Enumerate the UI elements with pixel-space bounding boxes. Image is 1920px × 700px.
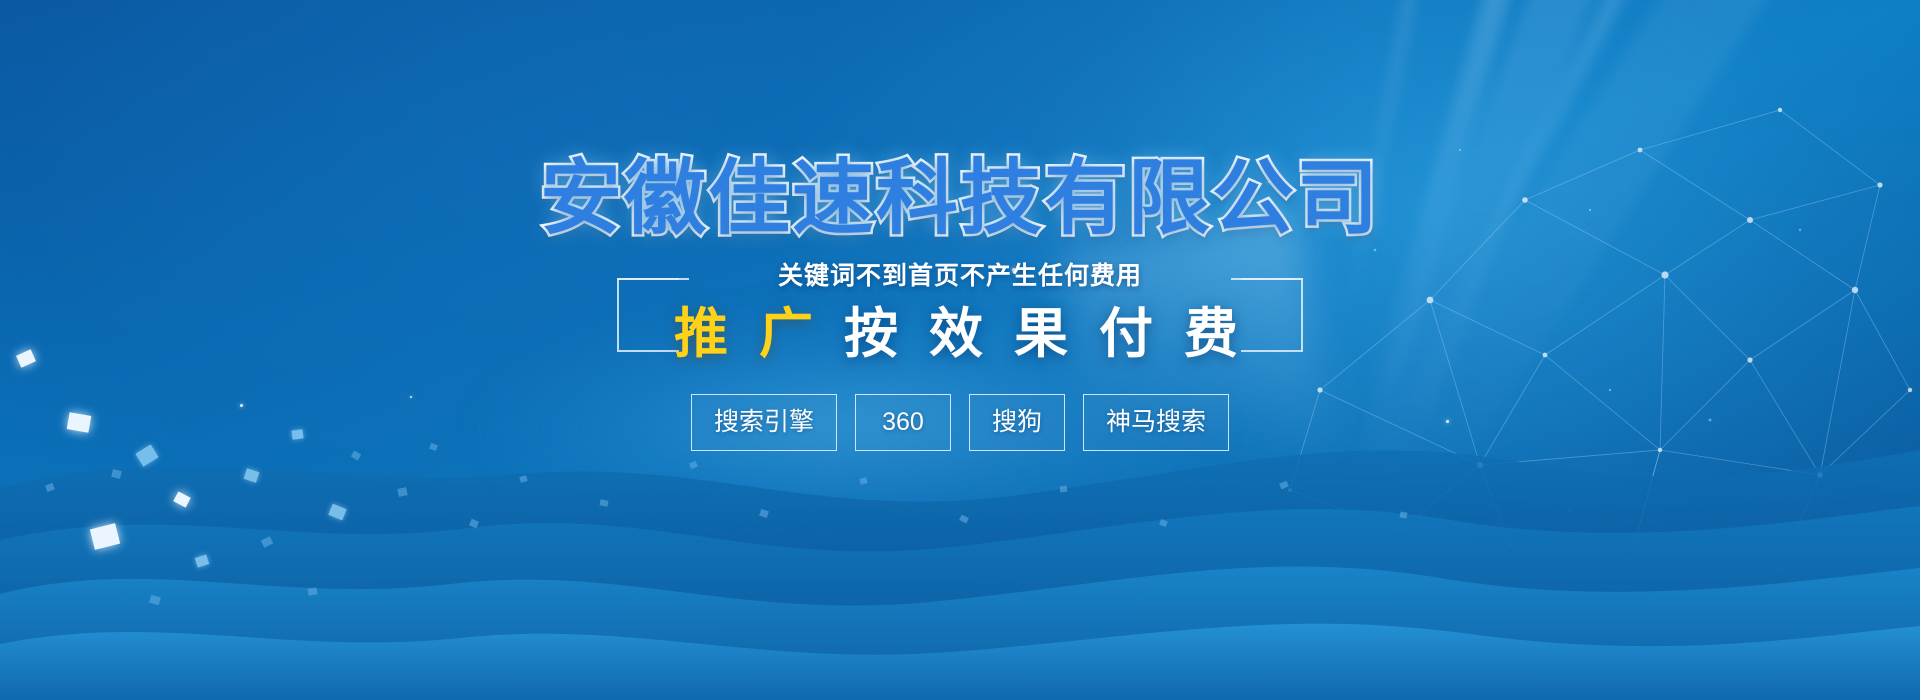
main-slogan-highlight: 推 广 [674, 304, 821, 364]
engine-button-search[interactable]: 搜索引擎 [691, 394, 837, 451]
engine-button-sogou[interactable]: 搜狗 [969, 394, 1065, 451]
search-engine-button-group: 搜索引擎 360 搜狗 神马搜索 [691, 394, 1229, 451]
banner-content: 安徽佳速科技有限公司 关键词不到首页不产生任何费用 推 广 按 效 果 付 费 … [0, 0, 1920, 700]
hero-banner: 安徽佳速科技有限公司 关键词不到首页不产生任何费用 推 广 按 效 果 付 费 … [0, 0, 1920, 700]
divider-line-left [617, 278, 689, 280]
main-slogan: 推 广 按 效 果 付 费 [674, 305, 1246, 364]
bracket-right [1241, 278, 1303, 352]
engine-button-360[interactable]: 360 [855, 394, 951, 451]
company-title: 安徽佳速科技有限公司 [540, 158, 1380, 240]
slogan-block: 关键词不到首页不产生任何费用 推 广 按 效 果 付 费 [675, 264, 1245, 364]
main-slogan-rest: 按 效 果 付 费 [821, 304, 1246, 364]
sub-slogan: 关键词不到首页不产生任何费用 [766, 264, 1154, 289]
engine-button-shenma[interactable]: 神马搜索 [1083, 394, 1229, 451]
divider-line-right [1231, 278, 1303, 280]
bracket-left [617, 278, 679, 352]
